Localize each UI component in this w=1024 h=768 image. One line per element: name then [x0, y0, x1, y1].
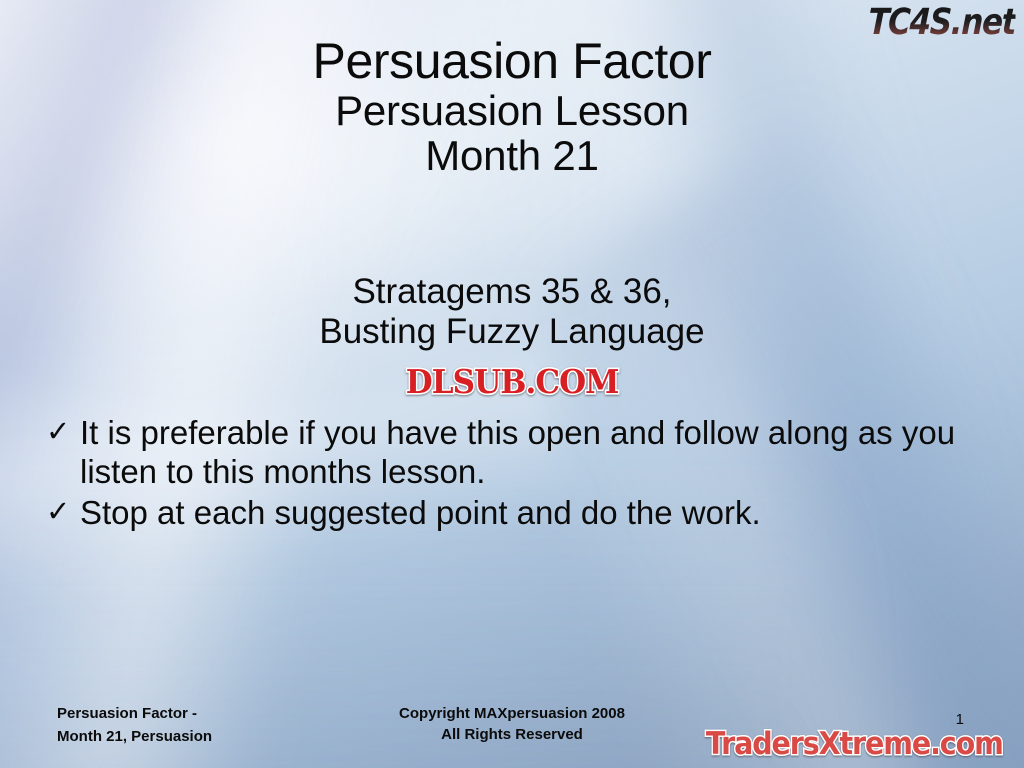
watermark-tc4s: TC4S.net: [868, 2, 1016, 43]
copyright-line-2: All Rights Reserved: [0, 724, 1024, 746]
list-item: ✓ Stop at each suggested point and do th…: [46, 494, 984, 533]
list-item: ✓ It is preferable if you have this open…: [46, 414, 984, 492]
copyright-line-1: Copyright MAXpersuasion 2008: [0, 703, 1024, 725]
slide-subtitle: Stratagems 35 & 36, Busting Fuzzy Langua…: [0, 272, 1024, 352]
watermark-dlsub: DLSUB.COM: [0, 362, 1024, 401]
title-line-3: Month 21: [0, 133, 1024, 178]
title-line-2: Persuasion Lesson: [0, 88, 1024, 133]
check-icon: ✓: [46, 414, 80, 452]
watermark-dlsub-text: DLSUB.COM: [406, 362, 619, 401]
presentation-slide: Persuasion Factor Persuasion Lesson Mont…: [0, 0, 1024, 768]
list-item-text: Stop at each suggested point and do the …: [80, 494, 984, 533]
bullet-list: ✓ It is preferable if you have this open…: [46, 414, 984, 535]
page-number: 1: [956, 711, 964, 728]
list-item-text: It is preferable if you have this open a…: [80, 414, 984, 492]
check-icon: ✓: [46, 494, 80, 532]
subtitle-line-2: Busting Fuzzy Language: [0, 312, 1024, 352]
subtitle-line-1: Stratagems 35 & 36,: [0, 272, 1024, 312]
footer-copyright: Copyright MAXpersuasion 2008 All Rights …: [0, 703, 1024, 747]
slide-title: Persuasion Factor Persuasion Lesson Mont…: [0, 34, 1024, 179]
